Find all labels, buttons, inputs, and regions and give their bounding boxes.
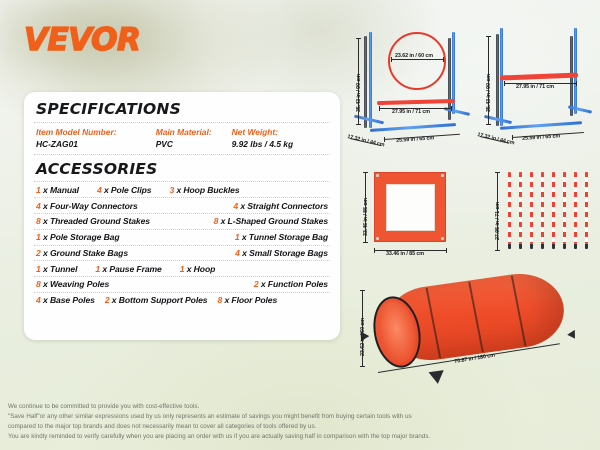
accessory-item: 2 x Bottom Support Poles: [105, 295, 208, 305]
frame-corner: [376, 237, 379, 240]
dim-cap: [356, 124, 361, 125]
accessories-list: 1 x Manual 4 x Pole Clips 3 x Hoop Buckl…: [34, 181, 330, 307]
accessories-row: 1 x Pole Storage Bag 1 x Tunnel Storage …: [34, 230, 330, 245]
weave-pole: [541, 172, 544, 244]
barjump-base-front: [500, 121, 582, 130]
dim-cap: [576, 81, 577, 86]
specifications-heading: SPECIFICATIONS: [34, 100, 330, 118]
accessory-item: 8 x L-Shaped Ground Stakes: [214, 216, 328, 226]
spec-label: Main Material:: [156, 126, 232, 138]
dim-hoop-diameter: 23.62 in / 60 cm: [395, 53, 433, 59]
dim-frame-width: 33.46 in / 85 cm: [386, 251, 424, 257]
weave-pole: [530, 172, 533, 244]
diagram-weave-poles: 27.95 in / 71 cm: [486, 168, 594, 264]
tunnel-rib: [511, 276, 527, 346]
diagram-bar-jump: 27.95 in / 71 cm 35.43 in / 90 cm 17.32 …: [478, 26, 596, 152]
disclaimer-line-3: compared to the major top brands and doe…: [8, 422, 594, 432]
footer-disclaimer: We continue to be committed to provide y…: [8, 402, 594, 442]
dim-cap: [384, 137, 385, 142]
weave-pole: [508, 172, 511, 244]
accessories-row: 4 x Four-Way Connectors 4 x Straight Con…: [34, 198, 330, 213]
accessories-row: 4 x Base Poles 2 x Bottom Support Poles …: [34, 293, 330, 308]
weave-pole: [574, 172, 577, 244]
accessory-item: 4 x Pole Clips: [97, 185, 152, 195]
spec-net-weight: Net Weight: 9.92 lbs / 4.5 kg: [232, 126, 328, 150]
diagram-pause-frame: 33.46 in / 85 cm 33.46 in / 85 cm: [352, 168, 468, 264]
accessories-row: 1 x Manual 4 x Pole Clips 3 x Hoop Buckl…: [34, 182, 330, 197]
dim-cap: [495, 172, 500, 173]
ground-stake-icon: [429, 370, 446, 385]
tunnel-rib: [426, 288, 442, 358]
weave-pole: [519, 172, 522, 244]
dim-barjump-base-depth: 17.32 in / 44 cm: [477, 132, 515, 146]
spec-label: Item Model Number:: [36, 126, 156, 138]
disclaimer-line-4: You are kindly reminded to verify carefu…: [8, 432, 594, 442]
accessory-item: 8 x Threaded Ground Stakes: [36, 216, 150, 226]
dim-cap: [446, 248, 447, 253]
dim-cap: [451, 106, 452, 111]
disclaimer-line-1: We continue to be committed to provide y…: [8, 402, 594, 412]
dim-hoop-height: 35.43 in / 90 cm: [356, 74, 362, 112]
accessories-row: 2 x Ground Stake Bags 4 x Small Storage …: [34, 246, 330, 261]
dim-cap: [360, 366, 365, 367]
accessory-item: 4 x Small Storage Bags: [235, 248, 328, 258]
hoop-ring: [388, 32, 446, 90]
frame-corner: [441, 237, 444, 240]
vevor-logo: VEVOR: [24, 22, 140, 58]
disclaimer-line-2: "Save Half"or any other similar expressi…: [8, 412, 594, 422]
dim-barjump-bar-width: 27.95 in / 71 cm: [516, 84, 554, 90]
specifications-table: Item Model Number: HC-ZAG01 Main Materia…: [34, 122, 330, 155]
accessory-item: 1 x Pause Frame: [95, 264, 161, 274]
tunnel-rib: [468, 282, 484, 352]
spec-item-model-number: Item Model Number: HC-ZAG01: [36, 126, 156, 150]
accessory-item: 1 x Pole Storage Bag: [36, 232, 120, 242]
frame-corner: [441, 174, 444, 177]
accessories-row: 1 x Tunnel 1 x Pause Frame 1 x Hoop: [34, 261, 330, 276]
accessory-item: 1 x Tunnel Storage Bag: [235, 232, 328, 242]
ground-stake-icon: [567, 330, 579, 341]
spec-main-material: Main Material: PVC: [156, 126, 232, 150]
hoop-crossbar: [377, 99, 455, 105]
accessory-item: 1 x Tunnel: [36, 264, 77, 274]
hoop-left-upright: [364, 36, 367, 128]
dim-line-hoop-diameter: [391, 59, 443, 60]
accessory-item: 4 x Four-Way Connectors: [36, 201, 138, 211]
dim-hoop-base-width: 25.59 in / 65 cm: [396, 135, 434, 144]
product-info-card: SPECIFICATIONS Item Model Number: HC-ZAG…: [24, 92, 340, 340]
spec-value: PVC: [156, 138, 232, 150]
weave-pole: [585, 172, 588, 244]
dim-frame-height: 33.46 in / 85 cm: [363, 198, 369, 236]
accessories-row: 8 x Threaded Ground Stakes 8 x L-Shaped …: [34, 214, 330, 229]
spec-value: HC-ZAG01: [36, 138, 156, 150]
barjump-crossbar: [500, 73, 578, 81]
specifications-row: Item Model Number: HC-ZAG01 Main Materia…: [34, 123, 330, 154]
dim-cap: [379, 106, 380, 111]
dim-cap: [363, 172, 368, 173]
dim-cap: [443, 57, 444, 62]
accessory-item: 1 x Manual: [36, 185, 79, 195]
accessory-item: 8 x Floor Poles: [217, 295, 277, 305]
frame-corner: [376, 174, 379, 177]
divider: [34, 154, 330, 155]
dim-cap: [374, 248, 375, 253]
accessory-item: 4 x Straight Connectors: [233, 201, 328, 211]
dim-cap: [356, 38, 361, 39]
pause-frame-square: [374, 172, 446, 242]
barjump-right-pole: [574, 28, 577, 114]
dim-cap: [504, 81, 505, 86]
accessory-item: 1 x Hoop: [180, 264, 216, 274]
dim-barjump-height: 35.43 in / 90 cm: [486, 74, 492, 112]
dim-barjump-base-width: 25.59 in / 65 cm: [522, 133, 560, 142]
accessory-item: 8 x Weaving Poles: [36, 279, 109, 289]
dim-tunnel-diameter: 23.62 in / 60 cm: [360, 318, 366, 356]
diagram-hoop-jump: 23.62 in / 60 cm 27.95 in / 71 cm 35.43 …: [348, 26, 472, 152]
spec-value: 9.92 lbs / 4.5 kg: [232, 138, 328, 150]
hoop-left-pole: [369, 32, 372, 128]
accessory-item: 2 x Function Poles: [254, 279, 328, 289]
dim-hoop-base-depth: 17.32 in / 44 cm: [347, 134, 385, 148]
accessories-heading: ACCESSORIES: [34, 160, 330, 178]
barjump-left-upright: [496, 34, 499, 126]
weave-pole: [563, 172, 566, 244]
dim-cap: [495, 250, 500, 251]
accessory-item: 2 x Ground Stake Bags: [36, 248, 128, 258]
dim-cap: [486, 124, 491, 125]
dim-cap: [486, 36, 491, 37]
dim-cap: [512, 135, 513, 140]
diagram-tunnel: 23.62 in / 60 cm 70.87 in / 180 cm: [350, 272, 594, 392]
accessory-item: 4 x Base Poles: [36, 295, 95, 305]
dim-cap: [391, 57, 392, 62]
spec-label: Net Weight:: [232, 126, 328, 138]
dim-weave-height: 27.95 in / 71 cm: [495, 202, 501, 240]
accessory-item: 3 x Hoop Buckles: [169, 185, 239, 195]
hoop-base-front: [370, 123, 456, 132]
dim-cap: [360, 290, 365, 291]
weave-pole: [552, 172, 555, 244]
dim-hoop-bar-width: 27.95 in / 71 cm: [392, 109, 430, 115]
accessories-row: 8 x Weaving Poles 2 x Function Poles: [34, 277, 330, 292]
dim-cap: [363, 242, 368, 243]
